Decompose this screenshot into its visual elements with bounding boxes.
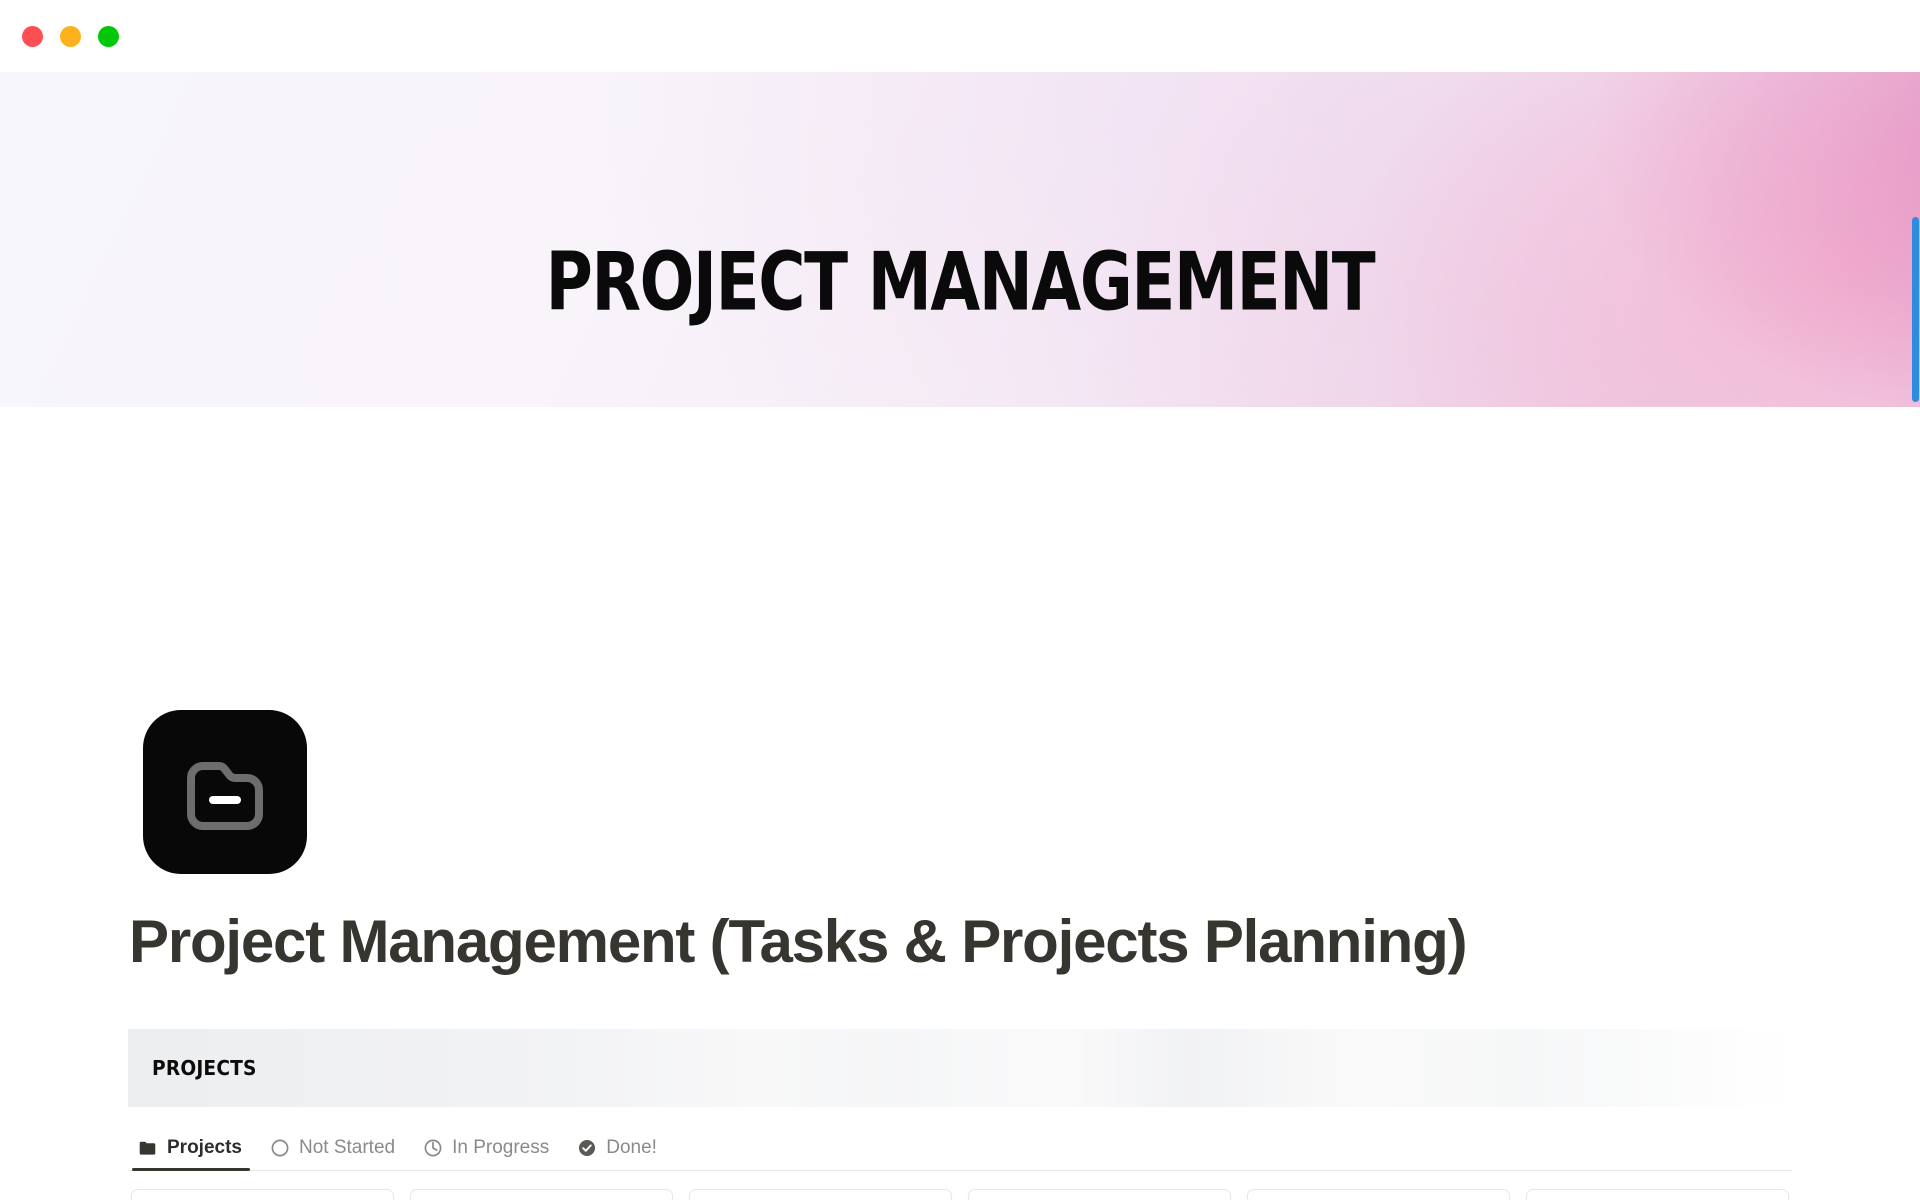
banner-title: PROJECT MANAGEMENT <box>77 242 1843 322</box>
window-titlebar <box>0 0 1920 72</box>
project-card[interactable]: Project Name 4 Not started 2 Tasks left <box>968 1189 1231 1200</box>
tab-in-progress[interactable]: In Progress <box>409 1137 563 1170</box>
projects-card-grid: Project Name In progress 3 Tasks left Pr… <box>131 1189 1805 1200</box>
folder-icon <box>138 1138 158 1158</box>
clock-icon <box>423 1138 443 1158</box>
project-card[interactable]: Project Name 2 Not started 5 Tasks left <box>410 1189 673 1200</box>
maximize-button[interactable] <box>98 26 119 47</box>
project-card[interactable]: Project Name 3 Done 0 Tasks left <box>689 1189 952 1200</box>
tab-not-started[interactable]: Not Started <box>256 1137 409 1170</box>
tab-done[interactable]: Done! <box>563 1137 671 1170</box>
project-card[interactable]: Project Name In progress 3 Tasks left <box>131 1189 394 1200</box>
window-controls <box>22 26 119 47</box>
close-button[interactable] <box>22 26 43 47</box>
circle-icon <box>270 1138 290 1158</box>
projects-tabrow: Projects Not Started In Progress Done! <box>128 1123 1792 1171</box>
tab-projects-label: Projects <box>167 1137 242 1159</box>
projects-section-band: PROJECTS <box>128 1029 1792 1107</box>
tab-done-label: Done! <box>606 1137 657 1159</box>
tab-in-progress-label: In Progress <box>452 1137 549 1159</box>
minimize-button[interactable] <box>60 26 81 47</box>
project-card[interactable]: Project Name 6 In progress 9 Tasks left <box>1526 1189 1789 1200</box>
cover-banner: PROJECT MANAGEMENT <box>0 72 1920 407</box>
project-card[interactable]: Project Name 5 Done 3 Tasks left <box>1247 1189 1510 1200</box>
tab-projects[interactable]: Projects <box>128 1137 256 1170</box>
projects-section-label: PROJECTS <box>152 1056 257 1080</box>
page-title: Project Management (Tasks & Projects Pla… <box>129 907 1466 976</box>
folder-minus-icon[interactable] <box>143 710 307 874</box>
vertical-scrollbar[interactable] <box>1912 217 1919 402</box>
check-circle-icon <box>577 1138 597 1158</box>
tab-not-started-label: Not Started <box>299 1137 395 1159</box>
